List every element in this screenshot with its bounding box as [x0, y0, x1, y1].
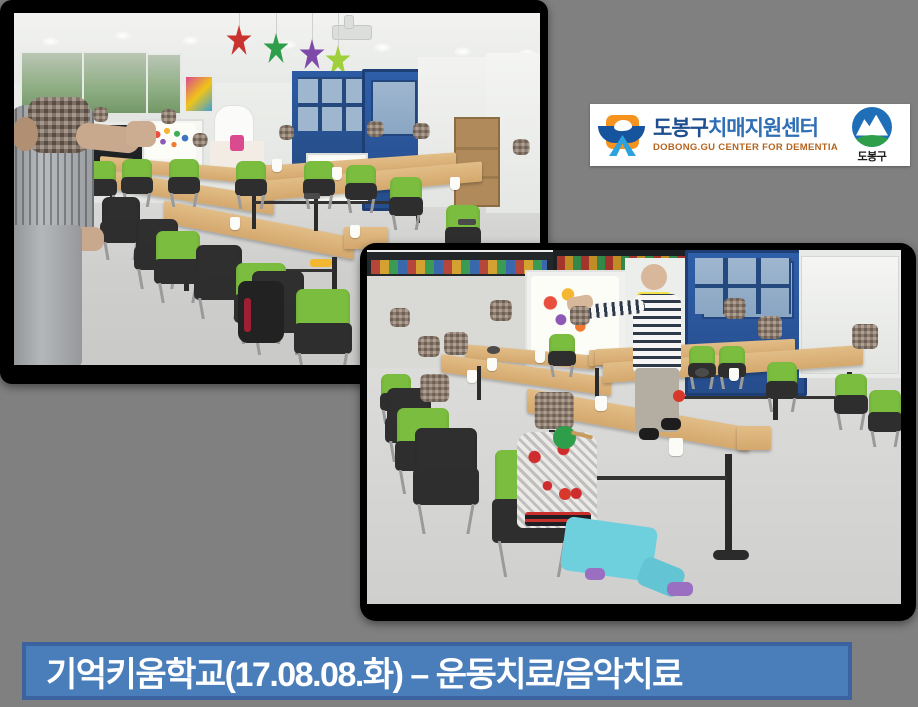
logo-text-block: 도봉구치매지원센터 DOBONG.GU CENTER FOR DEMENTIA [653, 118, 838, 153]
logo-title-kr-1: 도봉구 [653, 117, 708, 140]
photo-music-therapy-image [367, 250, 901, 604]
emblem-label: 도봉구 [846, 148, 898, 164]
mountain-icon [852, 107, 892, 147]
dobong-gu-emblem: 도봉구 [846, 107, 898, 164]
dobong-dementia-center-logo: 도봉구치매지원센터 DOBONG.GU CENTER FOR DEMENTIA … [590, 104, 910, 166]
logo-subtitle-en: DOBONG.GU CENTER FOR DEMENTIA [653, 143, 838, 153]
caption-text: 기억키움학교(17.08.08.화) – 운동치료/음악치료 [26, 647, 682, 696]
caption-banner: 기억키움학교(17.08.08.화) – 운동치료/음악치료 [22, 642, 852, 700]
center-logo-icon [598, 113, 645, 157]
logo-title-kr-2: 치매지원센터 [708, 117, 818, 140]
photo-music-therapy [360, 243, 916, 621]
slide-canvas: 도봉구치매지원센터 DOBONG.GU CENTER FOR DEMENTIA … [0, 0, 918, 707]
